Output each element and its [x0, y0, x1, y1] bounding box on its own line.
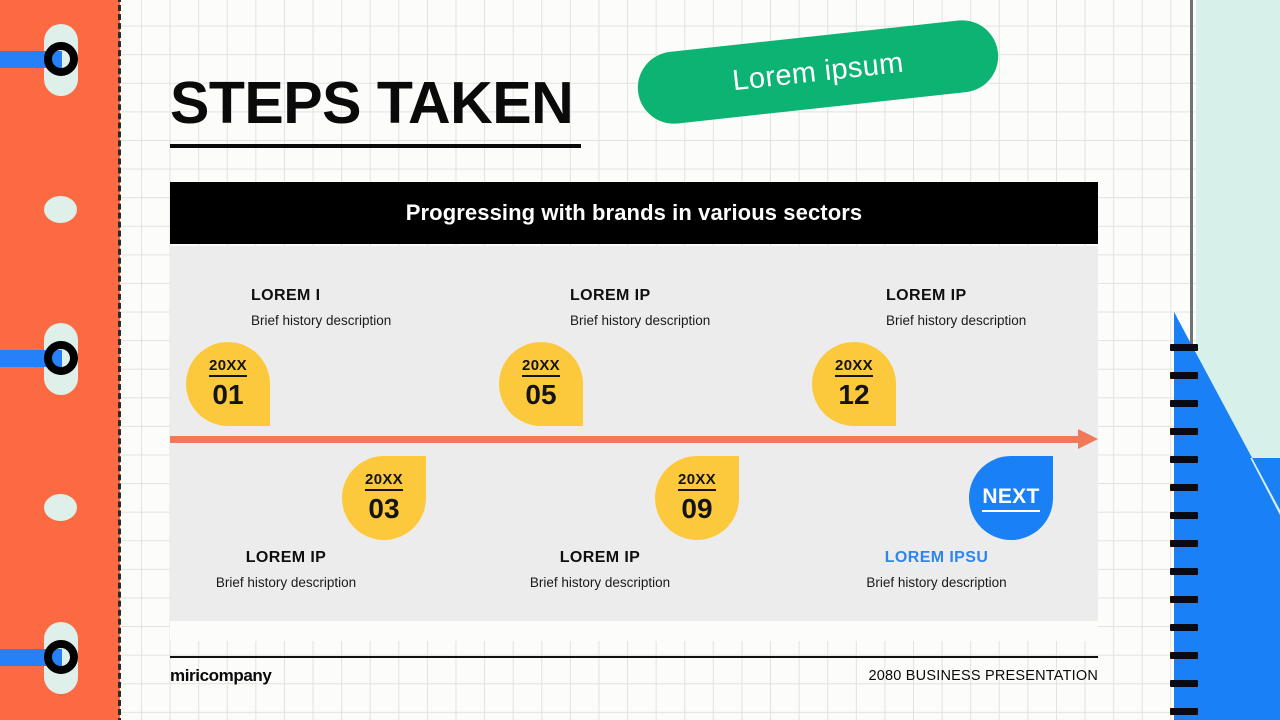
- ruler-tick: [1170, 568, 1198, 575]
- marker-number: 01: [212, 379, 243, 411]
- step-description: Brief history description: [186, 574, 386, 593]
- marker-year: 20XX: [835, 357, 873, 377]
- timeline-marker-03[interactable]: 20XX 03: [342, 456, 426, 540]
- timeline-marker-12[interactable]: 20XX 12: [812, 342, 896, 426]
- binder-ring-hole: [44, 341, 78, 375]
- next-button-label: NEXT: [982, 484, 1039, 512]
- step-title: LOREM IP: [500, 547, 700, 569]
- step-description: Brief history description: [886, 312, 1026, 331]
- marker-number: 03: [368, 493, 399, 525]
- binder-ring-hole: [44, 640, 78, 674]
- binder-ring-hole: [44, 42, 78, 76]
- panel-bottom-gap: [170, 621, 1098, 641]
- ruler-tick: [1170, 400, 1198, 407]
- step-title: LOREM IPSU: [814, 547, 1059, 569]
- timeline-arrow-line: [170, 436, 1080, 443]
- ruler-tick: [1170, 512, 1198, 519]
- step-title: LOREM I: [251, 285, 391, 307]
- ruler-tick: [1170, 596, 1198, 603]
- subtitle-banner-text: Progressing with brands in various secto…: [406, 200, 863, 226]
- footer-divider: [170, 656, 1098, 658]
- step-title: LOREM IP: [886, 285, 1026, 307]
- marker-year: 20XX: [678, 471, 716, 491]
- timeline-marker-09[interactable]: 20XX 09: [655, 456, 739, 540]
- page-title: STEPS TAKEN: [170, 74, 573, 133]
- ruler-tick: [1170, 652, 1198, 659]
- timeline-marker-05[interactable]: 20XX 05: [499, 342, 583, 426]
- step-description: Brief history description: [570, 312, 710, 331]
- ruler-tick: [1170, 428, 1198, 435]
- step-text-bottom-3: LOREM IPSU Brief history description: [814, 547, 1059, 592]
- footer-company-name: miricompany: [170, 666, 271, 686]
- step-text-top-1: LOREM I Brief history description: [251, 285, 391, 330]
- subtitle-banner: Progressing with brands in various secto…: [170, 182, 1098, 244]
- ruler-tick: [1170, 372, 1198, 379]
- slide-canvas: STEPS TAKEN Lorem ipsum Progressing with…: [0, 0, 1280, 720]
- step-text-bottom-2: LOREM IP Brief history description: [500, 547, 700, 592]
- marker-number: 05: [525, 379, 556, 411]
- step-description: Brief history description: [251, 312, 391, 331]
- timeline-arrow-head: [1078, 429, 1098, 449]
- ruler-tick: [1170, 624, 1198, 631]
- ruler-tick: [1170, 456, 1198, 463]
- ruler-tick: [1170, 680, 1198, 687]
- marker-year: 20XX: [209, 357, 247, 377]
- footer-presentation-title: 2080 BUSINESS PRESENTATION: [869, 668, 1098, 684]
- step-title: LOREM IP: [570, 285, 710, 307]
- marker-year: 20XX: [365, 471, 403, 491]
- ruler-tick: [1170, 708, 1198, 715]
- marker-number: 09: [681, 493, 712, 525]
- step-text-top-2: LOREM IP Brief history description: [570, 285, 710, 330]
- step-description: Brief history description: [814, 574, 1059, 593]
- title-underline: [170, 144, 581, 148]
- timeline-marker-01[interactable]: 20XX 01: [186, 342, 270, 426]
- step-text-top-3: LOREM IP Brief history description: [886, 285, 1026, 330]
- step-text-bottom-1: LOREM IP Brief history description: [186, 547, 386, 592]
- dashed-divider-line: [118, 0, 121, 720]
- marker-year: 20XX: [522, 357, 560, 377]
- binder-dot-1: [44, 196, 77, 223]
- ruler-tick: [1170, 484, 1198, 491]
- ruler-tick: [1170, 540, 1198, 547]
- next-button[interactable]: NEXT: [969, 456, 1053, 540]
- ruler-tick: [1170, 344, 1198, 351]
- binder-dot-2: [44, 494, 77, 521]
- step-description: Brief history description: [500, 574, 700, 593]
- step-title: LOREM IP: [186, 547, 386, 569]
- marker-number: 12: [838, 379, 869, 411]
